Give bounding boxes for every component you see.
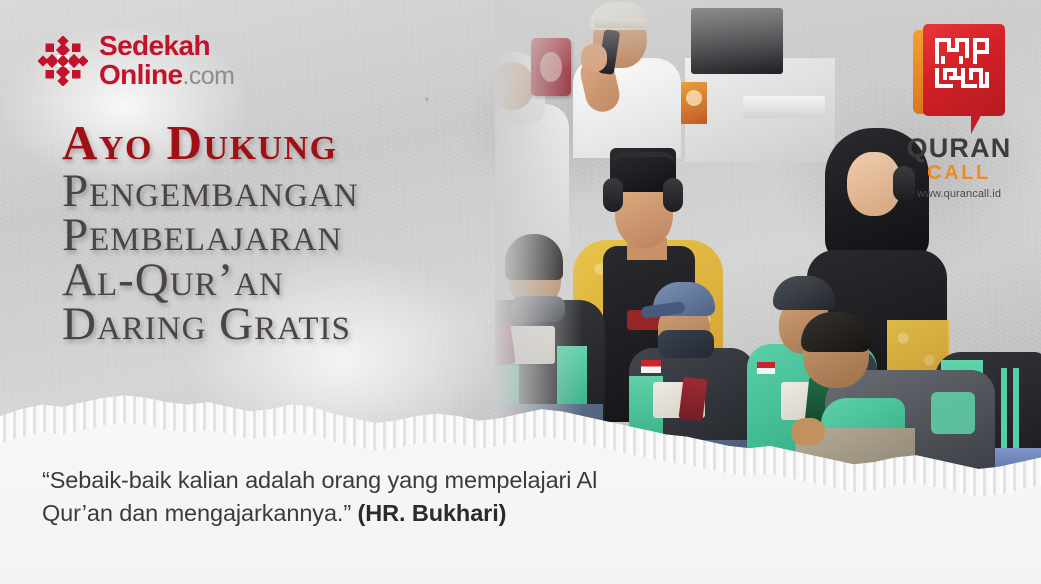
headline-line-3: Pembelajaran — [62, 213, 532, 258]
islamic-star-logo-icon — [38, 36, 88, 86]
reader-two-open-quran — [653, 382, 705, 418]
poster-shape — [681, 82, 707, 124]
brand-name-online: Online — [99, 59, 183, 90]
headphone-band — [613, 152, 675, 164]
headline-block: Ayo Dukung Pengembangan Pembelajaran Al-… — [62, 120, 532, 347]
headline-line-1: Ayo Dukung — [62, 120, 532, 167]
boy-hand — [581, 44, 607, 72]
monitor-shape — [691, 8, 783, 74]
foreground-man-back-logo — [931, 392, 975, 434]
quran-speech-bubble-icon — [913, 24, 1005, 128]
reader-two-neck-buff — [658, 330, 714, 358]
quote-attribution: (HR. Bukhari) — [358, 500, 507, 526]
indonesia-flag-patch-one — [641, 360, 661, 373]
brand-name-line2: Online.com — [99, 61, 234, 89]
brand-name-tld: .com — [183, 62, 235, 90]
reader-two-blue-cap — [653, 282, 715, 316]
quote-text: “Sebaik-baik kalian adalah orang yang me… — [42, 467, 597, 526]
speech-bubble-tail — [971, 108, 985, 134]
qurancall-name-primary: QURAN — [899, 134, 1019, 162]
right-figure-stripe-one — [1001, 368, 1007, 460]
qurancall-name-secondary: CALL — [899, 163, 1019, 184]
arabic-kufic-calligraphy-icon — [933, 36, 995, 90]
red-mushaf-quran — [531, 38, 571, 96]
reader-three-dark-cap — [773, 276, 835, 310]
sedekah-online-wordmark: Sedekah Online.com — [99, 32, 234, 89]
qurancall-logo[interactable]: QURAN CALL www.qurancall.id — [899, 24, 1019, 200]
headline-line-4: Al-Qur’an — [62, 258, 532, 303]
right-figure-stripe-two — [1013, 368, 1019, 460]
hadith-quote: “Sebaik-baik kalian adalah orang yang me… — [42, 464, 662, 531]
keyboard-shape — [743, 96, 825, 118]
foreground-man-hand — [791, 418, 825, 446]
headphone-cup-left — [603, 178, 623, 212]
headline-line-5: Daring Gratis — [62, 302, 532, 347]
headline-line-2: Pengembangan — [62, 169, 532, 214]
brand-name-line1: Sedekah — [99, 32, 234, 60]
boy-white-peci-cap — [590, 2, 650, 30]
headphone-cup-right — [663, 178, 683, 212]
promo-banner: Sedekah Online.com Ayo Dukung Pengembang… — [0, 0, 1041, 584]
white-robe-head — [495, 62, 534, 110]
qurancall-website: www.qurancall.id — [899, 188, 1019, 200]
sedekah-online-logo[interactable]: Sedekah Online.com — [38, 32, 234, 89]
indonesia-flag-patch-two — [757, 362, 775, 374]
